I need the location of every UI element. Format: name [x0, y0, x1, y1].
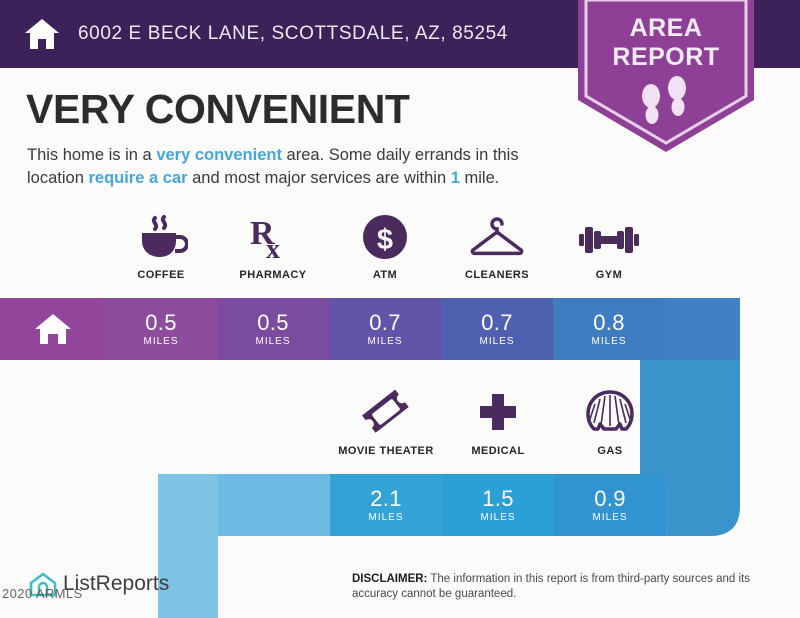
amenity-icon-row-secondary: MOVIE THEATER MEDICAL: [330, 388, 666, 457]
amenity-icon-row-primary: COFFEE R x PHARMACY $ ATM CLEANERS: [105, 212, 665, 281]
prescription-rx-icon: R x: [248, 212, 298, 260]
amenity-cleaners[interactable]: CLEANERS: [441, 212, 553, 281]
movie-ticket-icon: [361, 388, 411, 436]
distance-unit: MILES: [592, 512, 627, 523]
badge-title: AREA REPORT: [578, 14, 754, 72]
home-icon: [33, 312, 73, 346]
amenity-medical[interactable]: MEDICAL: [442, 388, 554, 457]
distance-value: 0.5: [257, 311, 288, 334]
distance-unit: MILES: [367, 336, 402, 347]
amenity-label: ATM: [373, 269, 397, 281]
svg-text:x: x: [266, 234, 280, 260]
armls-watermark: 2020 ARMLS: [2, 586, 83, 601]
badge-line-1: AREA: [578, 14, 754, 43]
amenity-atm[interactable]: $ ATM: [329, 212, 441, 281]
distance-value: 1.5: [482, 487, 513, 510]
distance-value: 0.9: [594, 487, 625, 510]
distance-unit: MILES: [480, 512, 515, 523]
distance-cell-gym: 0.8 MILES: [553, 298, 665, 360]
distance-unit: MILES: [479, 336, 514, 347]
coffee-cup-icon: [134, 212, 188, 260]
amenity-movie-theater[interactable]: MOVIE THEATER: [330, 388, 442, 457]
distance-cell-atm: 0.7 MILES: [329, 298, 441, 360]
distance-cell-cleaners: 0.7 MILES: [441, 298, 553, 360]
medical-cross-icon: [476, 388, 520, 436]
badge-line-2: REPORT: [578, 43, 754, 72]
origin-home-segment: [0, 298, 105, 360]
gas-shell-icon: [586, 388, 634, 436]
clothes-hanger-icon: [468, 212, 526, 260]
distance-unit: MILES: [368, 512, 403, 523]
distance-cell-gas: 0.9 MILES: [554, 474, 666, 536]
distance-value: 0.5: [145, 311, 176, 334]
distance-unit: MILES: [255, 336, 290, 347]
distance-value: 0.7: [369, 311, 400, 334]
amenity-coffee[interactable]: COFFEE: [105, 212, 217, 281]
disclaimer-label: DISCLAIMER:: [352, 573, 427, 585]
distance-unit: MILES: [143, 336, 178, 347]
amenity-label: COFFEE: [137, 269, 184, 281]
amenity-label: CLEANERS: [465, 269, 529, 281]
area-report-badge: AREA REPORT: [578, 0, 754, 152]
amenity-label: GYM: [596, 269, 622, 281]
distance-value: 2.1: [370, 487, 401, 510]
amenity-label: MOVIE THEATER: [338, 445, 433, 457]
distance-bar-primary: 0.5 MILES 0.5 MILES 0.7 MILES 0.7 MILES …: [0, 298, 665, 360]
svg-text:$: $: [377, 224, 393, 256]
amenity-gas[interactable]: GAS: [554, 388, 666, 457]
distance-value: 0.8: [593, 311, 624, 334]
amenity-label: MEDICAL: [471, 445, 524, 457]
dollar-circle-icon: $: [362, 212, 408, 260]
amenity-label: GAS: [597, 445, 622, 457]
disclaimer: DISCLAIMER: The information in this repo…: [352, 572, 772, 602]
dumbbell-icon: [579, 212, 639, 260]
distance-cell-coffee: 0.5 MILES: [105, 298, 217, 360]
distance-value: 0.7: [481, 311, 512, 334]
amenity-label: PHARMACY: [239, 269, 306, 281]
distance-cell-pharmacy: 0.5 MILES: [217, 298, 329, 360]
distance-unit: MILES: [591, 336, 626, 347]
amenity-pharmacy[interactable]: R x PHARMACY: [217, 212, 329, 281]
distance-bar-secondary: 2.1 MILES 1.5 MILES 0.9 MILES: [218, 474, 666, 536]
distance-cell-medical: 1.5 MILES: [442, 474, 554, 536]
distance-spacer: [218, 474, 330, 536]
amenity-gym[interactable]: GYM: [553, 212, 665, 281]
distance-cell-movie-theater: 2.1 MILES: [330, 474, 442, 536]
